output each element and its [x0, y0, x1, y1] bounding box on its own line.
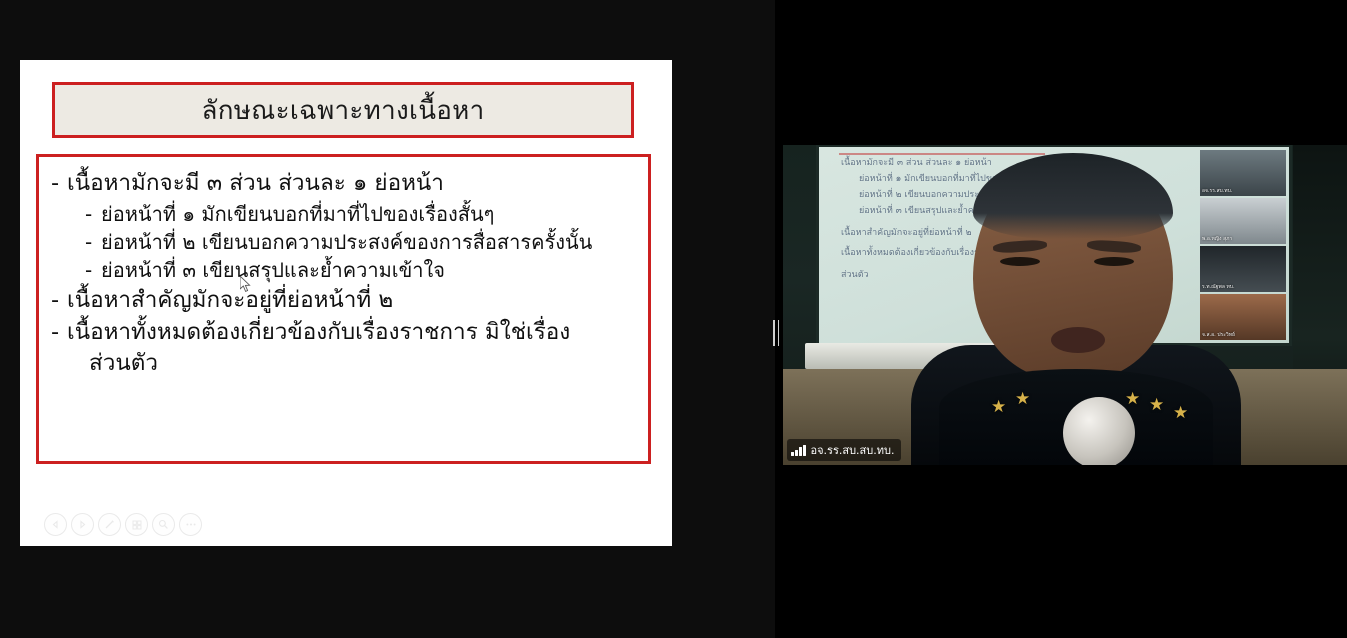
- bullet-dash: -: [85, 229, 101, 255]
- slide-bullet-continuation: ส่วนตัว: [49, 349, 638, 379]
- slide-title-box: ลักษณะเฉพาะทางเนื้อหา: [52, 82, 634, 138]
- magnifier-zoom-icon[interactable]: [152, 513, 175, 536]
- slide-title: ลักษณะเฉพาะทางเนื้อหา: [201, 90, 484, 131]
- microphone: [1063, 397, 1135, 465]
- slide-body-box: - เนื้อหามักจะมี ๓ ส่วน ส่วนละ ๑ ย่อหน้า…: [36, 154, 651, 464]
- slide-bullet: - ย่อหน้าที่ ๒ เขียนบอกความประสงค์ของการ…: [49, 229, 638, 255]
- handle-line: [778, 320, 780, 346]
- slide-controls-toolbar[interactable]: [44, 513, 202, 536]
- participant-name: อจ.รร.สบ.สบ.ทบ.: [811, 441, 895, 459]
- participant-name-badge: อจ.รร.สบ.สบ.ทบ.: [787, 439, 901, 461]
- rank-star-icon: ★: [1149, 397, 1164, 414]
- bullet-text: ย่อหน้าที่ ๒ เขียนบอกความประสงค์ของการสื…: [101, 229, 638, 255]
- rank-star-icon: ★: [1125, 391, 1140, 408]
- speaker-hair: [973, 153, 1173, 239]
- slide-surface[interactable]: ลักษณะเฉพาะทางเนื้อหา - เนื้อหามักจะมี ๓…: [20, 60, 672, 546]
- slide-bullet: - เนื้อหามักจะมี ๓ ส่วน ส่วนละ ๑ ย่อหน้า: [49, 169, 638, 199]
- bullet-dash: -: [51, 169, 67, 199]
- panel-resize-handle[interactable]: [771, 318, 781, 348]
- pen-annotate-icon[interactable]: [98, 513, 121, 536]
- speaker-video-tile[interactable]: เนื้อหามักจะมี ๓ ส่วน ส่วนละ ๑ ย่อหน้า ย…: [783, 145, 1347, 465]
- slide-bullet: - ย่อหน้าที่ ๓ เขียนสรุปและย้ำความเข้าใจ: [49, 257, 638, 283]
- meeting-screen-share-view: ลักษณะเฉพาะทางเนื้อหา - เนื้อหามักจะมี ๓…: [0, 0, 1347, 638]
- bullet-dash: -: [85, 201, 101, 227]
- bullet-text: ย่อหน้าที่ ๓ เขียนสรุปและย้ำความเข้าใจ: [101, 257, 638, 283]
- speaker-eye-right: [1094, 257, 1134, 266]
- previous-slide-icon[interactable]: [44, 513, 67, 536]
- bullet-dash: -: [51, 318, 67, 348]
- bullet-text: เนื้อหาสำคัญมักจะอยู่ที่ย่อหน้าที่ ๒: [67, 286, 638, 316]
- bullet-dash: -: [51, 286, 67, 316]
- speaker-figure: ★ ★ ★ ★ ★: [911, 145, 1241, 465]
- bullet-text: ส่วนตัว: [89, 349, 638, 379]
- slide-bullet: - เนื้อหาทั้งหมดต้องเกี่ยวข้องกับเรื่องร…: [49, 318, 638, 348]
- slide-bullet: - ย่อหน้าที่ ๑ มักเขียนบอกที่มาที่ไปของเ…: [49, 201, 638, 227]
- rank-star-icon: ★: [1173, 405, 1188, 422]
- bullet-text: ย่อหน้าที่ ๑ มักเขียนบอกที่มาที่ไปของเรื…: [101, 201, 638, 227]
- handle-line: [773, 320, 775, 346]
- speaker-eye-left: [1000, 257, 1040, 266]
- bullet-text: เนื้อหามักจะมี ๓ ส่วน ส่วนละ ๑ ย่อหน้า: [67, 169, 638, 199]
- rank-star-icon: ★: [1015, 391, 1030, 408]
- share-panel: ลักษณะเฉพาะทางเนื้อหา - เนื้อหามักจะมี ๓…: [0, 0, 775, 638]
- slide-grid-icon[interactable]: [125, 513, 148, 536]
- more-options-icon[interactable]: [179, 513, 202, 536]
- projected-line: ส่วนตัว: [841, 267, 869, 281]
- speaker-mouth: [1051, 327, 1105, 353]
- rank-star-icon: ★: [991, 399, 1006, 416]
- next-slide-icon[interactable]: [71, 513, 94, 536]
- bullet-text: เนื้อหาทั้งหมดต้องเกี่ยวข้องกับเรื่องราช…: [67, 318, 638, 348]
- bullet-dash: -: [85, 257, 101, 283]
- signal-strength-icon: [791, 445, 806, 456]
- slide-bullet: - เนื้อหาสำคัญมักจะอยู่ที่ย่อหน้าที่ ๒: [49, 286, 638, 316]
